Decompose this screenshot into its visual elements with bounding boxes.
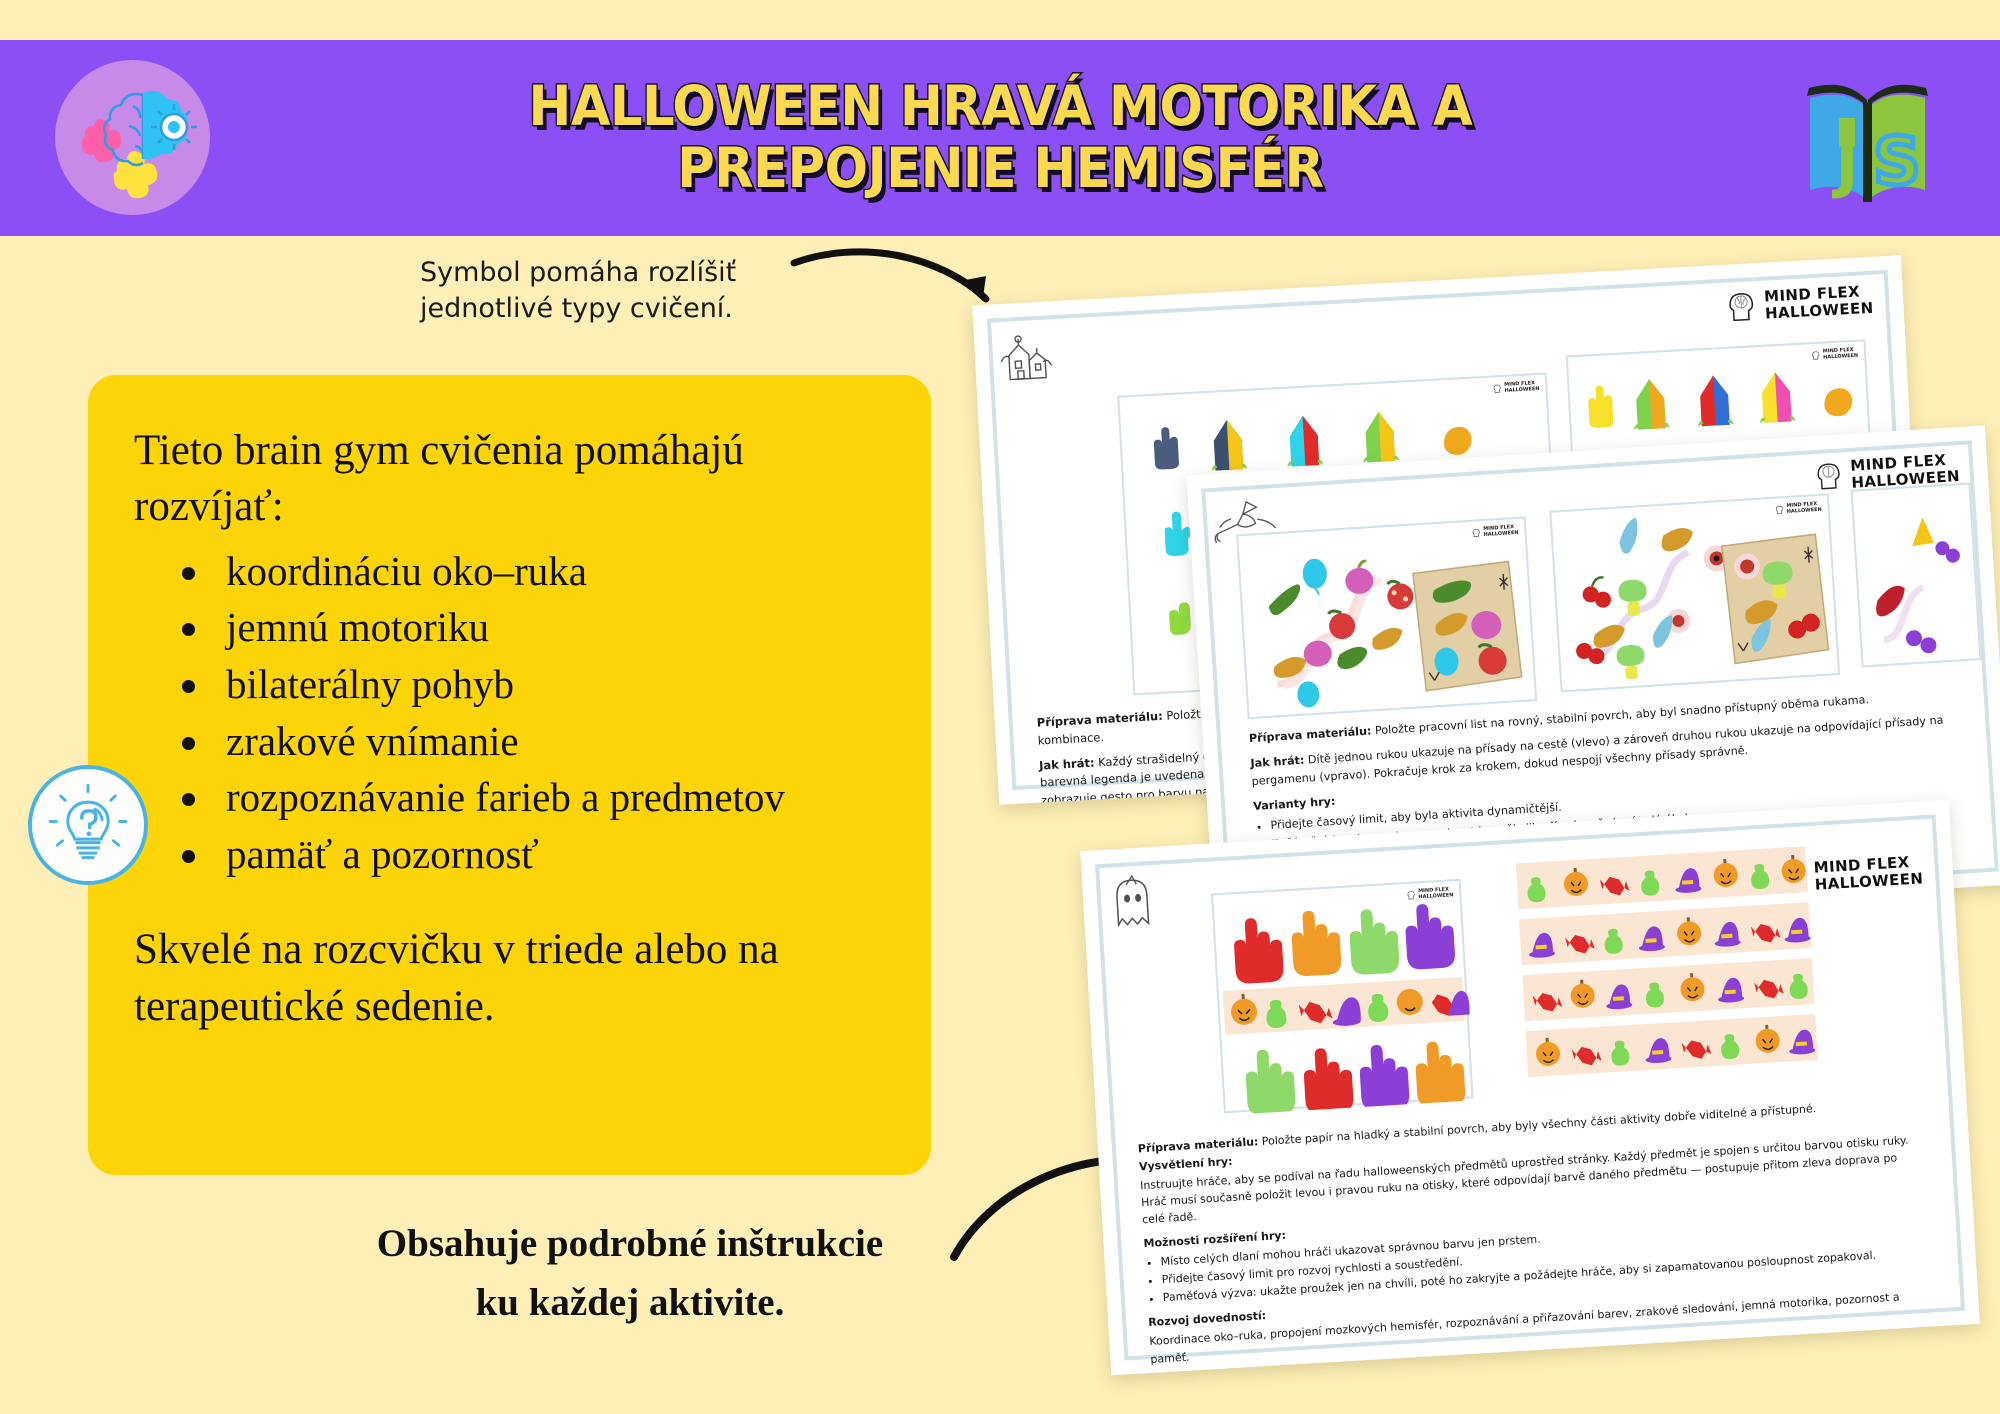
list-item: bilaterálny pohyb	[134, 656, 885, 713]
head-brain-icon	[1728, 291, 1758, 322]
lightbulb-question-icon	[28, 765, 148, 885]
flower-purple	[1935, 540, 1960, 563]
cucumber-2	[1336, 646, 1368, 669]
info-box-tail: Skvelé na rozcvičku v triede alebo na te…	[134, 922, 885, 1036]
mini-brand-label: MIND FLEX HALLOWEEN	[1786, 501, 1822, 515]
ingredients-path-diagram	[1238, 518, 1539, 721]
brain-gears-puzzle-logo	[55, 60, 210, 215]
candy-cone	[1910, 517, 1934, 546]
leaf	[1371, 627, 1403, 650]
list-item: rozpoznávanie farieb a predmetov	[134, 769, 885, 826]
variants-label: Varianty hry:	[1253, 795, 1336, 813]
cucumber	[1267, 584, 1301, 615]
book-letter-j: J	[1831, 128, 1858, 201]
activity-panel-ingredients-1: MIND FLEX HALLOWEEN	[1236, 516, 1537, 719]
callout-top-text: Symbol pomáha rozlíšiť jednotlivé typy c…	[420, 255, 820, 328]
mushroom-2	[1616, 644, 1646, 680]
ghost-doodle	[1108, 871, 1157, 932]
berries	[1582, 577, 1612, 609]
feather	[1618, 517, 1639, 554]
activity-panel-hands: MIND FLEX HALLOWEEN	[1211, 879, 1474, 1113]
prep-body-2: kombinace.	[1037, 730, 1104, 748]
explain-label: Vysvětlení hry:	[1139, 1155, 1233, 1174]
mini-brand-label: MIND FLEX HALLOWEEN	[1504, 380, 1540, 394]
parchment-scroll	[1413, 561, 1523, 691]
ingredients-path-diagram-3	[1853, 484, 1984, 669]
list-item: koordináciu oko–ruka	[134, 543, 885, 600]
how-label: Jak hrát:	[1039, 755, 1095, 772]
list-item: jemnú motoriku	[134, 599, 885, 656]
parchment-scroll-2	[1721, 534, 1829, 664]
balloon	[1302, 558, 1328, 589]
leaf-autumn	[1661, 527, 1694, 552]
benefits-list: koordináciu oko–ruka jemnú motoriku bila…	[134, 543, 885, 882]
activity-panel-ingredients-2: MIND FLEX HALLOWEEN	[1549, 493, 1840, 692]
mini-brand-label: MIND FLEX HALLOWEEN	[1483, 524, 1519, 538]
book-letter-s: S	[1873, 123, 1921, 200]
worksheet-hands-pumpkins[interactable]: MIND FLEX HALLOWEEN MIND FLEX HALLOWEEN	[1080, 800, 1980, 1376]
how-label: Jak hrát:	[1250, 754, 1305, 770]
worksheet-3-instructions: Příprava materiálu: Položte papír na hla…	[1137, 1094, 1930, 1374]
head-brain-icon	[1816, 462, 1844, 492]
mini-brand: MIND FLEX HALLOWEEN	[1493, 380, 1540, 394]
worksheet-brand-label: MIND FLEX HALLOWEEN	[1764, 283, 1874, 323]
brain-right-gears	[143, 91, 197, 159]
activity-panel-object-rows	[1511, 838, 1825, 1105]
ingredients-path-diagram-2	[1551, 495, 1842, 694]
feather-2	[1652, 615, 1674, 648]
list-item: pamäť a pozornosť	[134, 826, 885, 883]
mini-brand-label: MIND FLEX HALLOWEEN	[1418, 886, 1454, 900]
leaf-autumn-2	[1593, 624, 1626, 648]
handprints-and-strip	[1213, 881, 1476, 1115]
activity-panel-ingredients-3	[1851, 482, 1982, 667]
mini-brand-label: MIND FLEX HALLOWEEN	[1823, 347, 1859, 361]
page-header: HALLOWEEN HRAVÁ MOTORIKA A PREPOJENIE HE…	[0, 40, 2000, 236]
callout-bottom-text: Obsahuje podrobné inštrukcie ku každej a…	[290, 1215, 970, 1332]
flower-purple-2	[1906, 629, 1937, 655]
skills-label: Rozvoj dovedností:	[1148, 1309, 1267, 1329]
mini-brand: MIND FLEX HALLOWEEN	[1812, 347, 1859, 361]
info-box: Tieto brain gym cvičenia pomáhajú rozvíj…	[88, 375, 931, 1175]
apple	[1386, 580, 1414, 610]
info-box-lead: Tieto brain gym cvičenia pomáhajú rozvíj…	[134, 423, 885, 535]
open-book-js-logo: J S	[1785, 58, 1950, 218]
object-rows	[1511, 838, 1825, 1105]
worksheet-brand-label: MIND FLEX HALLOWEEN	[1813, 853, 1924, 894]
haunted-house-doodle	[995, 325, 1056, 386]
balloon-2	[1297, 681, 1321, 708]
list-item: zrakové vnímanie	[134, 713, 885, 770]
page-title: HALLOWEEN HRAVÁ MOTORIKA A PREPOJENIE HE…	[528, 76, 1472, 199]
